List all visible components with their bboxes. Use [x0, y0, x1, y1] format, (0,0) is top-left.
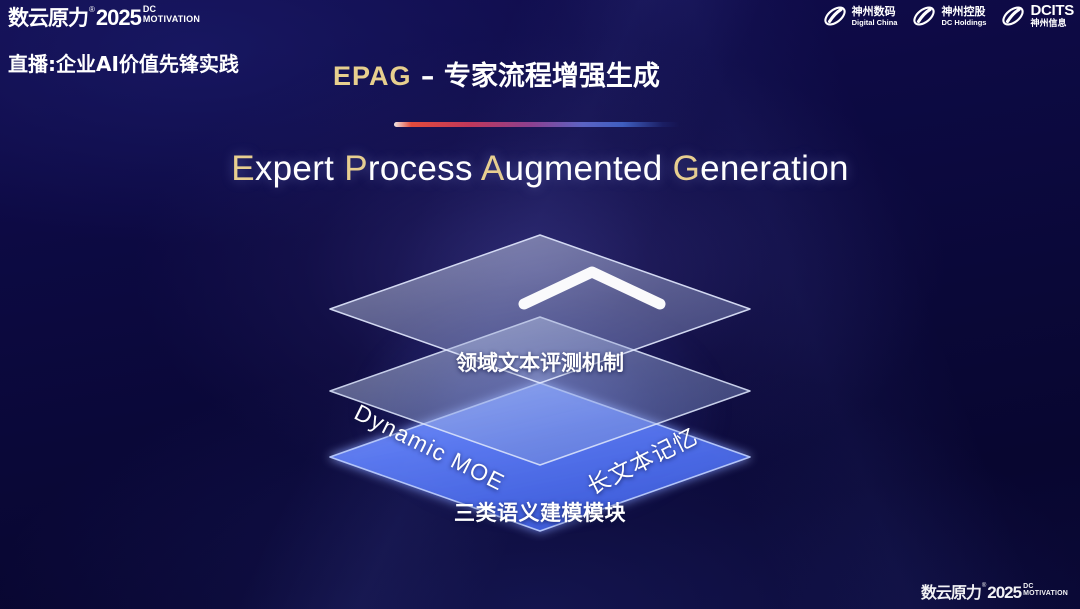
brand-name-cn: 数云原力	[8, 4, 88, 32]
logo-digital-china: 神州数码 Digital China	[822, 3, 898, 29]
brand-logo-header: 数云原力 ® 2025 DC MOTIVATION	[8, 4, 200, 34]
diagram-layer-top[interactable]: 领域文本评测机制	[318, 229, 762, 393]
brand-logo-footer: 数云原力 ® 2025 DC MOTIVATION	[921, 582, 1068, 603]
logo-name-cn: 神州数码	[852, 6, 898, 17]
brand-year: 2025	[987, 582, 1021, 603]
swirl-icon	[911, 3, 937, 29]
brand-dc-line2: MOTIVATION	[143, 14, 200, 24]
slide-title: EPAG – 专家流程增强生成	[333, 54, 660, 93]
slide-title-acronym: EPAG	[333, 61, 412, 91]
logo-dcits: DCITS 神州信息	[1000, 3, 1074, 29]
logo-text: DCITS 神州信息	[1030, 3, 1074, 29]
subtitle-word-initial: P	[344, 149, 368, 188]
brand-dc-line2: MOTIVATION	[1023, 590, 1068, 598]
brand-name-cn: 数云原力	[921, 582, 981, 603]
layered-architecture-diagram: 三类语义建模模块 Dynamic MOE 长文本记忆	[270, 215, 810, 595]
layer-bottom-label: 三类语义建模模块	[318, 497, 762, 527]
logo-name-en: Digital China	[852, 19, 898, 27]
subtitle-word-initial: E	[231, 149, 255, 188]
subtitle-word-rest: ugmented	[505, 149, 663, 188]
subtitle-word-initial: G	[673, 149, 701, 188]
chevron-up-icon	[318, 229, 762, 404]
subtitle-word-rest: xpert	[255, 149, 334, 188]
partner-logos: 神州数码 Digital China 神州控股 DC Holdings	[822, 3, 1074, 29]
gradient-divider	[394, 122, 680, 127]
brand-year: 2025	[96, 4, 141, 32]
brand-dc-motivation: DC MOTIVATION	[1023, 583, 1068, 598]
subtitle-word-rest: eneration	[700, 149, 849, 188]
brand-registered-mark: ®	[89, 4, 95, 16]
logo-name-cn: 神州信息	[1030, 20, 1074, 29]
slide-title-subtitle-cn: – 专家流程增强生成	[421, 61, 660, 92]
brand-dc-line1: DC	[1023, 583, 1068, 590]
subtitle-word: Expert	[231, 149, 334, 188]
subtitle-word: Process	[344, 149, 473, 188]
brand-dc-line1: DC	[143, 5, 200, 14]
presentation-slide: 数云原力 ® 2025 DC MOTIVATION 直播:企业AI价值先锋实践 …	[0, 0, 1080, 609]
logo-name-en: DC Holdings	[941, 19, 986, 27]
brand-dc-motivation: DC MOTIVATION	[143, 5, 200, 24]
logo-dc-holdings: 神州控股 DC Holdings	[911, 3, 986, 29]
subtitle-word-rest: rocess	[368, 149, 473, 188]
swirl-icon	[1000, 3, 1026, 29]
layer-top-label: 领域文本评测机制	[318, 347, 762, 377]
subtitle-word: Augmented	[481, 149, 663, 188]
expanded-acronym-subtitle: Expert Process Augmented Generation	[0, 149, 1080, 189]
subtitle-word: Generation	[673, 149, 849, 188]
brand-registered-mark: ®	[982, 582, 986, 591]
live-broadcast-title: 直播:企业AI价值先锋实践	[8, 48, 239, 77]
logo-text: 神州控股 DC Holdings	[941, 6, 986, 27]
subtitle-word-initial: A	[481, 149, 505, 188]
logo-name-cn: 神州控股	[941, 6, 986, 17]
logo-text: 神州数码 Digital China	[852, 6, 898, 27]
swirl-icon	[822, 3, 848, 29]
logo-name-en: DCITS	[1030, 3, 1074, 18]
